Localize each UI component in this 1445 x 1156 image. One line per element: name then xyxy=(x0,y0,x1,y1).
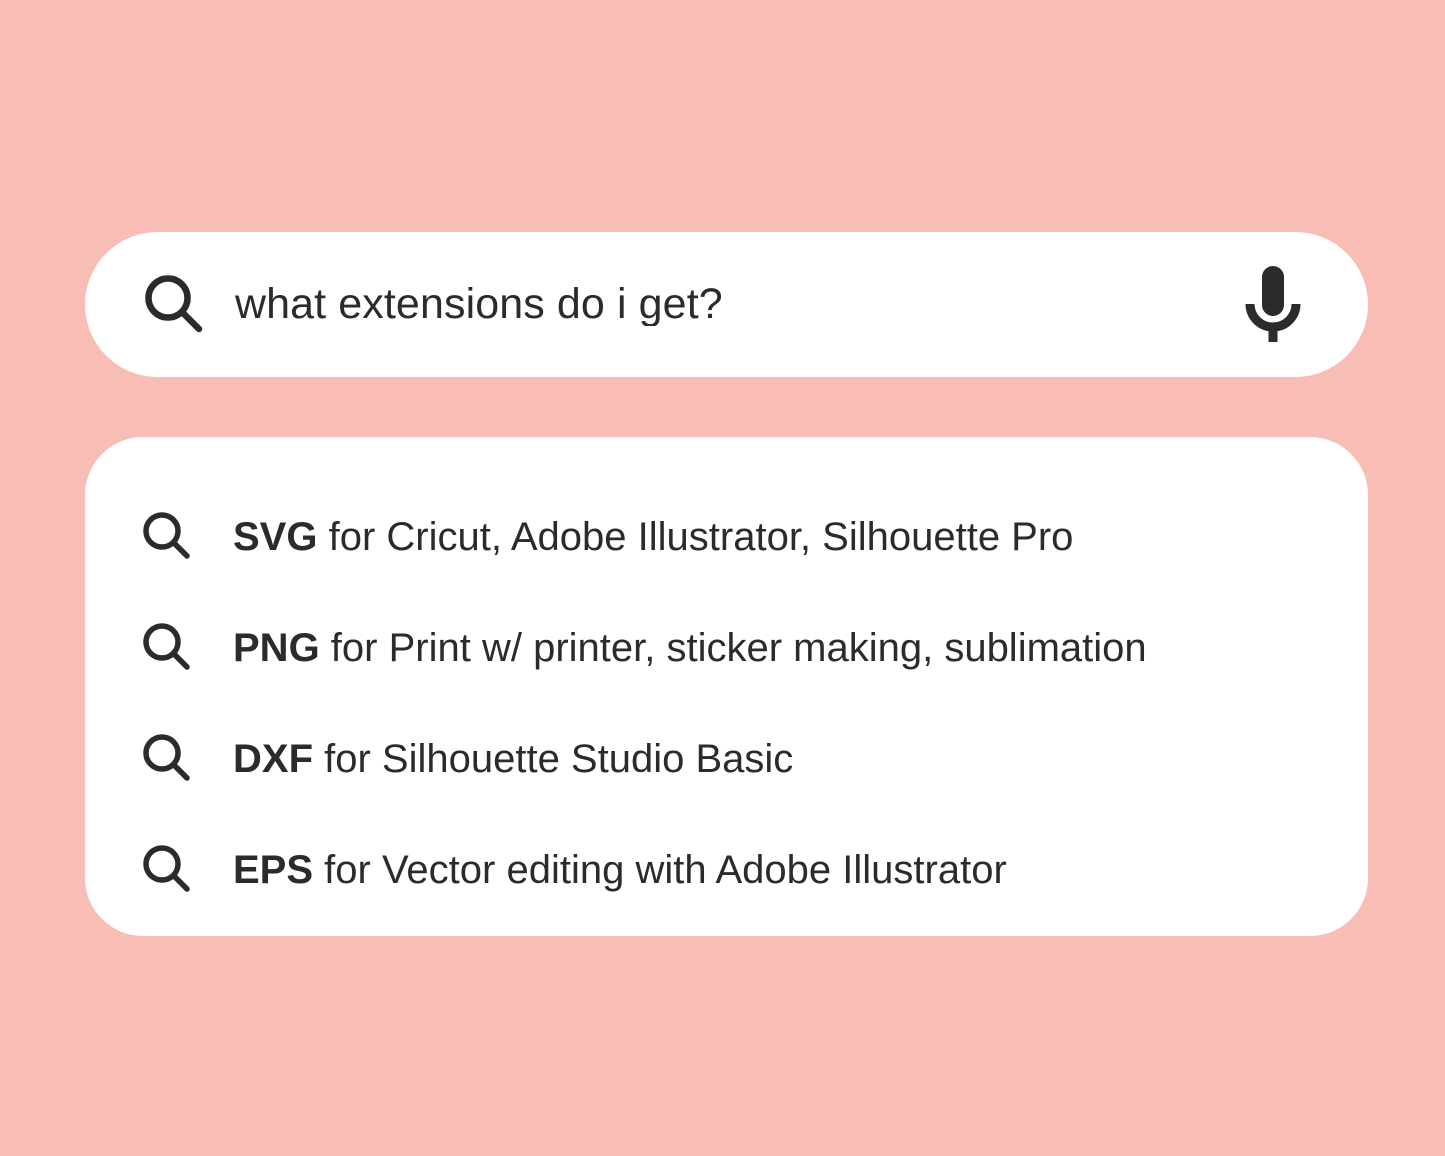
search-icon xyxy=(137,268,211,342)
suggestion-text: PNG for Print w/ printer, sticker making… xyxy=(233,628,1147,668)
list-item[interactable]: SVG for Cricut, Adobe Illustrator, Silho… xyxy=(85,481,1368,592)
suggestion-format-label: SVG xyxy=(233,515,317,559)
suggestion-text: EPS for Vector editing with Adobe Illust… xyxy=(233,850,1007,890)
search-input[interactable]: what extensions do i get? xyxy=(235,283,1238,326)
suggestion-description: for Vector editing with Adobe Illustrato… xyxy=(313,848,1007,892)
search-icon xyxy=(137,840,197,900)
suggestions-card: SVG for Cricut, Adobe Illustrator, Silho… xyxy=(85,437,1368,936)
search-bar[interactable]: what extensions do i get? xyxy=(85,232,1368,377)
suggestion-format-label: PNG xyxy=(233,626,320,670)
suggestion-text: DXF for Silhouette Studio Basic xyxy=(233,739,793,779)
suggestion-format-label: EPS xyxy=(233,848,313,892)
suggestion-description: for Cricut, Adobe Illustrator, Silhouett… xyxy=(317,515,1073,559)
suggestion-description: for Print w/ printer, sticker making, su… xyxy=(320,626,1147,670)
suggestion-description: for Silhouette Studio Basic xyxy=(313,737,793,781)
suggestion-text: SVG for Cricut, Adobe Illustrator, Silho… xyxy=(233,517,1073,557)
microphone-icon[interactable] xyxy=(1238,262,1308,348)
suggestion-format-label: DXF xyxy=(233,737,313,781)
search-icon xyxy=(137,618,197,678)
search-icon xyxy=(137,507,197,567)
search-icon xyxy=(137,729,197,789)
list-item[interactable]: DXF for Silhouette Studio Basic xyxy=(85,703,1368,814)
list-item[interactable]: PNG for Print w/ printer, sticker making… xyxy=(85,592,1368,703)
list-item[interactable]: EPS for Vector editing with Adobe Illust… xyxy=(85,814,1368,925)
